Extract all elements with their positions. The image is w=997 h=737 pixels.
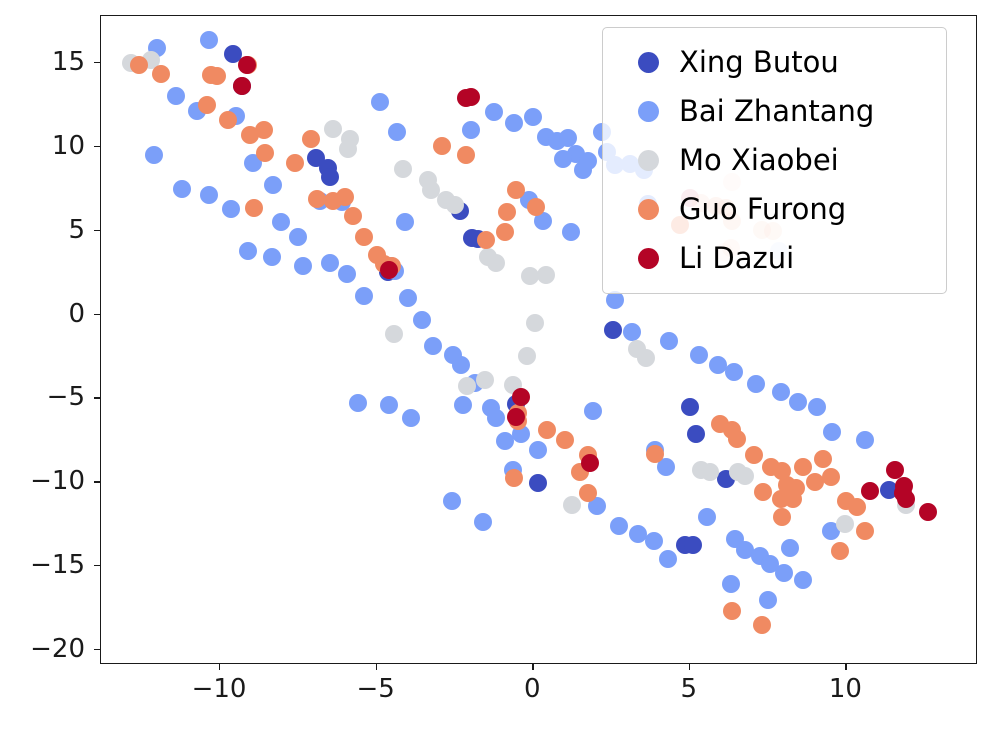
scatter-point (646, 445, 664, 463)
scatter-point (446, 196, 464, 214)
legend-label: Guo Furong (679, 195, 846, 224)
scatter-point (524, 108, 542, 126)
scatter-point (775, 564, 793, 582)
scatter-point (574, 161, 592, 179)
legend-label: Mo Xiaobei (679, 146, 839, 175)
scatter-point (474, 513, 492, 531)
scatter-point (794, 458, 812, 476)
y-tick-label: −5 (47, 384, 85, 410)
scatter-point (324, 120, 342, 138)
y-tick-label: 15 (52, 49, 85, 75)
scatter-point (443, 492, 461, 510)
x-tick-label: 5 (681, 676, 698, 702)
scatter-point (308, 190, 326, 208)
scatter-point (684, 536, 702, 554)
scatter-point (256, 144, 274, 162)
scatter-point (588, 497, 606, 515)
scatter-point (512, 388, 530, 406)
scatter-point (856, 522, 874, 540)
scatter-point (458, 377, 476, 395)
scatter-point (762, 458, 780, 476)
legend-entry-mo-xiaobei[interactable]: Mo Xiaobei (617, 136, 932, 185)
scatter-point (723, 602, 741, 620)
scatter-point (188, 102, 206, 120)
scatter-point (571, 463, 589, 481)
legend-marker-icon (638, 52, 659, 73)
scatter-point (152, 65, 170, 83)
y-tick-mark (94, 230, 100, 231)
scatter-point (375, 255, 393, 273)
scatter-point (529, 474, 547, 492)
scatter-point (604, 321, 622, 339)
scatter-point (498, 203, 516, 221)
scatter-point (806, 473, 824, 491)
scatter-point (496, 223, 514, 241)
scatter-point (333, 193, 351, 211)
scatter-point (794, 571, 812, 589)
scatter-point (338, 265, 356, 283)
scatter-point (263, 248, 281, 266)
scatter-point (745, 446, 763, 464)
scatter-point (451, 202, 469, 220)
scatter-point (380, 261, 398, 279)
scatter-point (227, 107, 245, 125)
scatter-point (368, 246, 386, 264)
scatter-point (238, 56, 256, 74)
scatter-point (148, 39, 166, 57)
scatter-point (241, 126, 259, 144)
scatter-point (681, 398, 699, 416)
scatter-point (728, 430, 746, 448)
legend-entry-bai-zhantang[interactable]: Bai Zhantang (617, 87, 932, 136)
scatter-point (736, 467, 754, 485)
scatter-point (307, 149, 325, 167)
scatter-point (690, 346, 708, 364)
scatter-point (219, 111, 237, 129)
legend-marker-icon (638, 248, 659, 269)
y-tick-mark (94, 146, 100, 147)
scatter-point (554, 150, 572, 168)
scatter-point (814, 450, 832, 468)
x-tick-label: −5 (356, 676, 394, 702)
scatter-point (386, 262, 404, 280)
y-tick-label: 10 (52, 133, 85, 159)
scatter-point (629, 525, 647, 543)
scatter-point (463, 229, 481, 247)
scatter-point (399, 289, 417, 307)
scatter-point (784, 490, 802, 508)
scatter-point (507, 181, 525, 199)
scatter-point (579, 446, 597, 464)
scatter-point (856, 431, 874, 449)
scatter-point (222, 200, 240, 218)
y-tick-mark (94, 62, 100, 63)
scatter-point (753, 616, 771, 634)
scatter-point (773, 508, 791, 526)
x-tick-mark (376, 664, 377, 670)
scatter-point (487, 254, 505, 272)
scatter-point (396, 213, 414, 231)
legend-marker-icon (638, 150, 659, 171)
legend-label: Xing Butou (679, 48, 839, 77)
scatter-point (504, 461, 522, 479)
scatter-point (173, 180, 191, 198)
scatter-point (496, 432, 514, 450)
legend-entry-xing-butou[interactable]: Xing Butou (617, 38, 932, 87)
scatter-point (509, 404, 527, 422)
scatter-point (505, 469, 523, 487)
scatter-point (897, 490, 915, 508)
scatter-point (487, 409, 505, 427)
scatter-point (142, 51, 160, 69)
scatter-point (584, 402, 602, 420)
legend-swatch-cell (617, 101, 679, 122)
scatter-point (437, 191, 455, 209)
scatter-point (836, 515, 854, 533)
scatter-point (321, 254, 339, 272)
scatter-point (462, 88, 480, 106)
scatter-point (808, 398, 826, 416)
scatter-point (344, 207, 362, 225)
scatter-point (388, 123, 406, 141)
scatter-point (722, 575, 740, 593)
legend-swatch-cell (617, 150, 679, 171)
legend-entry-guo-furong[interactable]: Guo Furong (617, 185, 932, 234)
scatter-point (751, 547, 769, 565)
scatter-point (419, 171, 437, 189)
scatter-point (897, 496, 915, 514)
scatter-point (462, 121, 480, 139)
scatter-point (880, 481, 898, 499)
scatter-point (660, 332, 678, 350)
scatter-point (321, 168, 339, 186)
scatter-point (208, 67, 226, 85)
scatter-point (894, 484, 912, 502)
x-tick-mark (219, 664, 220, 670)
scatter-point (512, 425, 530, 443)
y-tick-label: −15 (30, 552, 85, 578)
scatter-point (482, 399, 500, 417)
scatter-point (294, 257, 312, 275)
scatter-point (579, 152, 597, 170)
scatter-point (562, 223, 580, 241)
y-tick-label: −10 (30, 468, 85, 494)
scatter-point (886, 461, 904, 479)
scatter-point (476, 371, 494, 389)
scatter-point (521, 267, 539, 285)
legend-swatch-cell (617, 248, 679, 269)
scatter-point (548, 132, 566, 150)
scatter-point (567, 145, 585, 163)
scatter-point (504, 376, 522, 394)
y-tick-mark (94, 314, 100, 315)
scatter-point (233, 77, 251, 95)
legend-label: Bai Zhantang (679, 97, 874, 126)
scatter-point (324, 192, 342, 210)
scatter-point (224, 45, 242, 63)
scatter-point (433, 137, 451, 155)
scatter-point (646, 441, 664, 459)
x-tick-mark (689, 664, 690, 670)
scatter-point (559, 129, 577, 147)
scatter-point (723, 421, 741, 439)
scatter-point (698, 508, 716, 526)
scatter-point (485, 103, 503, 121)
scatter-point (200, 186, 218, 204)
y-tick-mark (94, 565, 100, 566)
scatter-point (659, 550, 677, 568)
scatter-point (676, 536, 694, 554)
legend-marker-icon (638, 101, 659, 122)
scatter-point (167, 87, 185, 105)
scatter-point (477, 231, 495, 249)
scatter-point (130, 56, 148, 74)
scatter-point (371, 93, 389, 111)
scatter-point (709, 356, 727, 374)
scatter-point (747, 375, 765, 393)
legend-entry-li-dazui[interactable]: Li Dazui (617, 234, 932, 283)
scatter-point (822, 522, 840, 540)
scatter-point (773, 462, 791, 480)
scatter-point (534, 212, 552, 230)
scatter-point (789, 393, 807, 411)
scatter-point (507, 395, 525, 413)
scatter-point (466, 374, 484, 392)
scatter-point (563, 496, 581, 514)
scatter-point (729, 463, 747, 481)
y-tick-mark (94, 481, 100, 482)
scatter-point (355, 228, 373, 246)
scatter-point (556, 431, 574, 449)
scatter-point (759, 591, 777, 609)
scatter-point (837, 492, 855, 510)
scatter-point (772, 490, 790, 508)
scatter-point (233, 77, 251, 95)
scatter-point (286, 154, 304, 172)
scatter-point (861, 482, 879, 500)
scatter-point (341, 130, 359, 148)
scatter-point (255, 121, 273, 139)
legend-label: Li Dazui (679, 244, 794, 273)
scatter-point (761, 555, 779, 573)
x-tick-mark (532, 664, 533, 670)
scatter-point (507, 408, 525, 426)
scatter-point (717, 470, 735, 488)
scatter-point (778, 476, 796, 494)
scatter-point (239, 242, 257, 260)
scatter-point (402, 409, 420, 427)
scatter-point (657, 458, 675, 476)
x-tick-label: 0 (524, 676, 541, 702)
scatter-point (311, 192, 329, 210)
scatter-point (454, 396, 472, 414)
scatter-point (736, 541, 754, 559)
scatter-point (754, 483, 772, 501)
scatter-point (726, 530, 744, 548)
scatter-point (701, 463, 719, 481)
scatter-point (413, 311, 431, 329)
legend-swatch-cell (617, 52, 679, 73)
scatter-point (202, 66, 220, 84)
scatter-point (772, 383, 790, 401)
y-tick-label: −20 (30, 636, 85, 662)
scatter-point (725, 363, 743, 381)
y-tick-label: 5 (68, 217, 85, 243)
scatter-point (787, 479, 805, 497)
scatter-point (822, 468, 840, 486)
scatter-point (336, 188, 354, 206)
x-tick-label: −10 (192, 676, 247, 702)
scatter-point (637, 349, 655, 367)
scatter-point (302, 130, 320, 148)
scatter-point (244, 154, 262, 172)
x-tick-mark (845, 664, 846, 670)
scatter-point (264, 176, 282, 194)
y-tick-mark (94, 649, 100, 650)
scatter-point (628, 340, 646, 358)
scatter-point (339, 140, 357, 158)
scatter-point (469, 230, 487, 248)
scatter-point (394, 160, 412, 178)
scatter-point (122, 54, 140, 72)
scatter-point (422, 181, 440, 199)
scatter-point (645, 532, 663, 550)
scatter-point (289, 228, 307, 246)
x-tick-label: 10 (829, 676, 862, 702)
scatter-point (919, 503, 937, 521)
scatter-point (319, 159, 337, 177)
scatter-point (781, 539, 799, 557)
y-tick-label: 0 (68, 301, 85, 327)
scatter-point (538, 421, 556, 439)
scatter-point (424, 337, 442, 355)
scatter-point (380, 396, 398, 414)
legend-box[interactable]: Xing ButouBai ZhantangMo XiaobeiGuo Furo… (602, 27, 947, 294)
scatter-point (526, 314, 544, 332)
scatter-point (581, 454, 599, 472)
scatter-point (379, 263, 397, 281)
scatter-point (537, 128, 555, 146)
scatter-point (382, 257, 400, 275)
scatter-point (239, 56, 257, 74)
scatter-point (145, 146, 163, 164)
scatter-point (831, 542, 849, 560)
legend-swatch-cell (617, 199, 679, 220)
scatter-point (823, 423, 841, 441)
scatter-point (457, 146, 475, 164)
scatter-point (692, 461, 710, 479)
scatter-point (520, 191, 538, 209)
scatter-point (385, 325, 403, 343)
scatter-point (200, 31, 218, 49)
scatter-point (479, 248, 497, 266)
scatter-point (245, 199, 263, 217)
scatter-point (848, 498, 866, 516)
scatter-point (537, 266, 555, 284)
scatter-point (518, 347, 536, 365)
scatter-point (529, 441, 547, 459)
scatter-point (457, 89, 475, 107)
scatter-point (349, 394, 367, 412)
scatter-plot-figure: 151050−5−10−15−20−10−50510 Xing ButouBai… (0, 0, 997, 737)
scatter-point (383, 257, 401, 275)
scatter-point (272, 213, 290, 231)
scatter-point (579, 484, 597, 502)
scatter-point (505, 114, 523, 132)
y-tick-mark (94, 397, 100, 398)
scatter-point (895, 477, 913, 495)
scatter-point (711, 415, 729, 433)
scatter-point (527, 198, 545, 216)
scatter-point (452, 356, 470, 374)
scatter-point (509, 412, 527, 430)
legend-marker-icon (638, 199, 659, 220)
scatter-point (444, 346, 462, 364)
scatter-point (623, 323, 641, 341)
scatter-point (198, 96, 216, 114)
scatter-point (610, 517, 628, 535)
scatter-point (355, 287, 373, 305)
scatter-point (687, 425, 705, 443)
